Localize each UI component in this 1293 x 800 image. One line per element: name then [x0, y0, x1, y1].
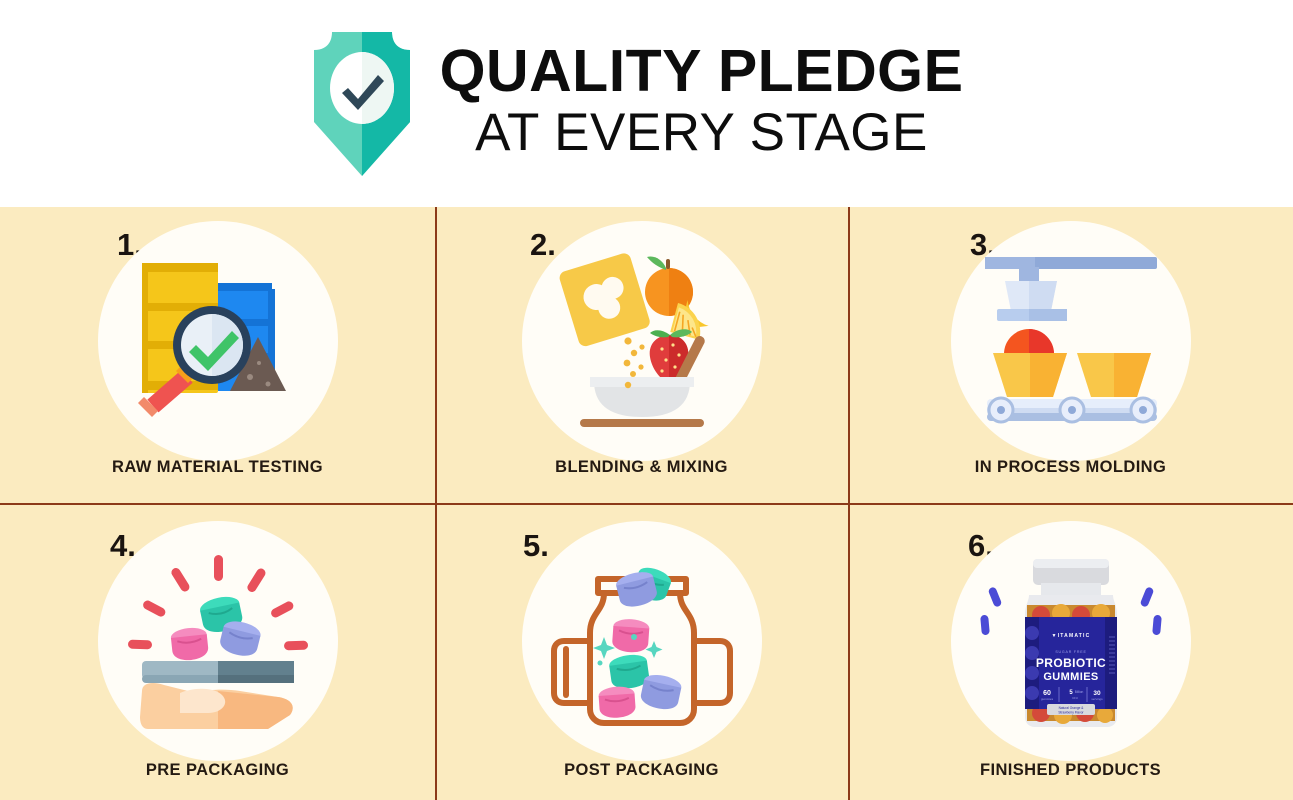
step-icon-disc-6: ▼ITAMATIC SUGAR FREE PROBIOTIC GUMMIES 6… [951, 521, 1191, 761]
shield-check-icon [310, 30, 414, 178]
infographic-page: QUALITY PLEDGE AT EVERY STAGE 1. [0, 0, 1293, 800]
steps-grid: 1. [0, 207, 1293, 800]
step-icon-disc-1 [98, 221, 338, 461]
step-card-6[interactable]: 6. [848, 503, 1293, 800]
step-card-5[interactable]: 5. [435, 503, 848, 800]
step-caption-1: RAW MATERIAL TESTING [0, 458, 435, 477]
step-card-1[interactable]: 1. [0, 207, 435, 503]
svg-text:gummies: gummies [1040, 697, 1053, 701]
step-caption-5: POST PACKAGING [435, 761, 848, 780]
svg-text:SUGAR FREE: SUGAR FREE [1055, 650, 1086, 654]
molding-press-conveyor-icon [971, 241, 1171, 441]
bowl-ingredients-icon [542, 241, 742, 441]
step-icon-disc-3 [951, 221, 1191, 461]
title-line-1: QUALITY PLEDGE [440, 42, 964, 101]
svg-text:60: 60 [1043, 690, 1051, 697]
step-card-4[interactable]: 4. [0, 503, 435, 800]
svg-text:GUMMIES: GUMMIES [1043, 671, 1098, 683]
svg-text:Strawberry Flavor: Strawberry Flavor [1058, 710, 1084, 714]
jar-gummies-icon [542, 541, 742, 741]
step-icon-disc-2 [522, 221, 762, 461]
step-card-3[interactable]: 3. [848, 207, 1293, 503]
step-caption-4: PRE PACKAGING [0, 761, 435, 780]
header-banner: QUALITY PLEDGE AT EVERY STAGE [0, 0, 1293, 207]
svg-text:Natural Orange &: Natural Orange & [1058, 706, 1084, 710]
page-title: QUALITY PLEDGE AT EVERY STAGE [440, 42, 964, 166]
title-line-2: AT EVERY STAGE [475, 101, 928, 166]
step-icon-disc-5 [522, 521, 762, 761]
step-caption-2: BLENDING & MIXING [435, 458, 848, 477]
svg-text:Billion: Billion [1074, 690, 1083, 694]
barrels-magnifier-icon [118, 241, 318, 441]
step-caption-6: FINISHED PRODUCTS [848, 761, 1293, 780]
svg-text:PROBIOTIC: PROBIOTIC [1035, 656, 1105, 670]
svg-text:CFU: CFU [1072, 696, 1078, 700]
svg-text:▼ITAMATIC: ▼ITAMATIC [1051, 633, 1090, 639]
horizontal-divider [0, 503, 1293, 505]
step-caption-3: IN PROCESS MOLDING [848, 458, 1293, 477]
hand-tray-gummies-icon [118, 541, 318, 741]
supplement-bottle-icon: ▼ITAMATIC SUGAR FREE PROBIOTIC GUMMIES 6… [971, 541, 1171, 741]
step-icon-disc-4 [98, 521, 338, 761]
svg-text:servings: servings [1091, 697, 1103, 701]
svg-text:30: 30 [1093, 690, 1101, 697]
step-card-2[interactable]: 2. [435, 207, 848, 503]
